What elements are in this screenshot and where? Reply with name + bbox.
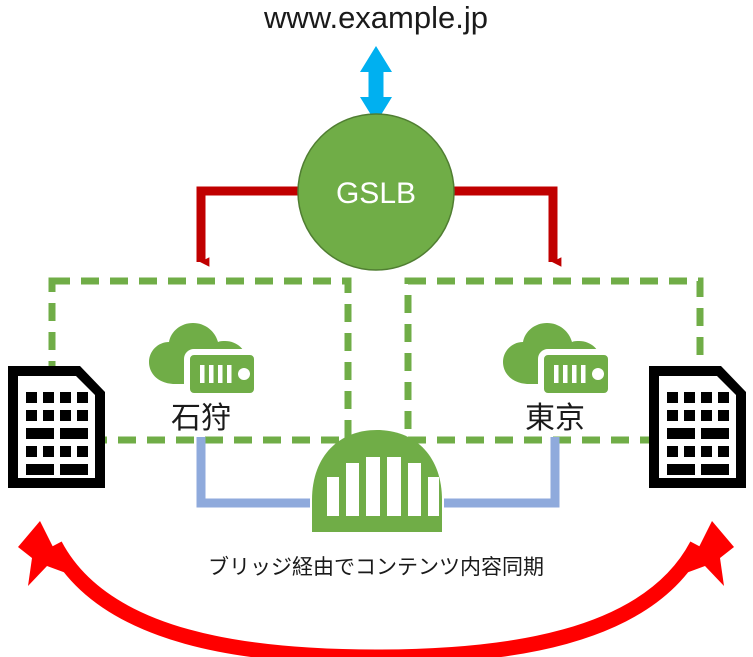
diagram-canvas: www.example.jp GSLB [0, 0, 753, 657]
zone-label-ishikari: 石狩 [171, 402, 231, 435]
bridge-connector-right [444, 437, 555, 503]
zone-label-tokyo: 東京 [525, 402, 585, 435]
gslb-label: GSLB [336, 177, 416, 210]
network-diagram: www.example.jp GSLB [0, 0, 753, 657]
cloud-server-icon [149, 323, 257, 396]
bridge-icon [312, 430, 442, 532]
document-icon [649, 366, 746, 488]
client-link-arrow [360, 46, 392, 123]
bridge-connector-left [201, 437, 310, 503]
document-icon [8, 366, 105, 488]
cloud-server-icon [503, 323, 611, 396]
domain-label: www.example.jp [263, 0, 488, 35]
sync-arc [18, 521, 734, 657]
gslb-node[interactable]: GSLB [298, 114, 454, 270]
bridge-caption: ブリッジ経由でコンテンツ内容同期 [208, 556, 544, 579]
